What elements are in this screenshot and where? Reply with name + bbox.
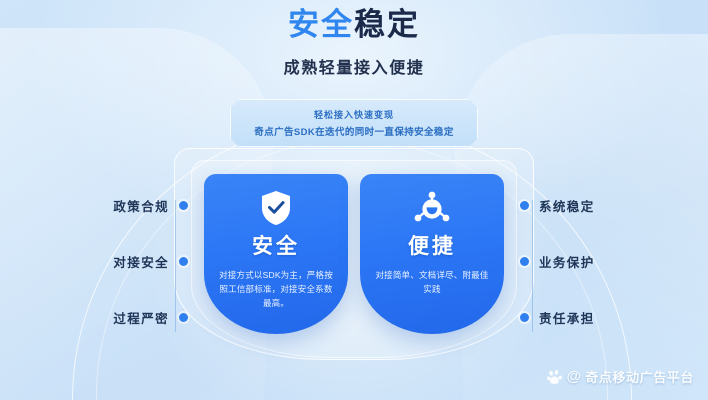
rail-item-label: 责任承担 — [539, 308, 595, 327]
feature-card-security[interactable]: 安全 对接方式以SDK为主，严格按照工信部标准，对接安全系数最高。 — [204, 174, 348, 334]
rail-item-label: 业务保护 — [539, 252, 595, 271]
rail-item-integration-security[interactable]: 对接安全 — [113, 252, 188, 270]
rail-dot-icon — [179, 201, 188, 210]
rail-item-policy-compliance[interactable]: 政策合规 — [113, 196, 188, 214]
rail-dot-icon — [520, 257, 529, 266]
tagline-line-1: 轻松接入快速变现 — [314, 108, 394, 121]
page-title-primary: 安全 — [288, 7, 354, 42]
baidu-paw-icon — [547, 369, 563, 385]
shield-stage: 安全 对接方式以SDK为主，严格按照工信部标准，对接安全系数最高。 — [159, 148, 549, 378]
page-subtitle: 成熟轻量接入便捷 — [0, 54, 708, 78]
page-title: 安全稳定 — [0, 6, 708, 45]
shield-check-icon — [217, 188, 335, 228]
page-title-secondary: 稳定 — [354, 7, 420, 42]
feature-card-title: 便捷 — [373, 230, 491, 260]
rail-dot-icon — [520, 201, 529, 210]
watermark-label: 奇点移动广告平台 — [585, 367, 694, 386]
feature-card-title: 安全 — [217, 230, 335, 260]
feature-rail-left: 政策合规 对接安全 过程严密 — [28, 196, 188, 336]
rail-item-process-rigor[interactable]: 过程严密 — [113, 308, 188, 326]
rail-item-label: 过程严密 — [113, 308, 169, 327]
poster-canvas: 安全稳定 成熟轻量接入便捷 轻松接入快速变现 奇点广告SDK在迭代的同时一直保持… — [0, 0, 708, 400]
rail-item-business-protection[interactable]: 业务保护 — [520, 252, 595, 270]
feature-card-body: 对接方式以SDK为主，严格按照工信部标准，对接安全系数最高。 — [217, 268, 335, 310]
molecule-smile-icon — [373, 188, 491, 228]
tagline-line-2: 奇点广告SDK在迭代的同时一直保持安全稳定 — [254, 124, 453, 138]
rail-dot-icon — [179, 257, 188, 266]
feature-card-body: 对接简单、文档详尽、附最佳实践 — [373, 268, 491, 296]
feature-rail-right: 系统稳定 业务保护 责任承担 — [520, 196, 680, 336]
feature-card-convenience[interactable]: 便捷 对接简单、文档详尽、附最佳实践 — [360, 174, 504, 334]
rail-item-label: 政策合规 — [113, 196, 169, 215]
feature-card-group: 安全 对接方式以SDK为主，严格按照工信部标准，对接安全系数最高。 — [204, 174, 504, 334]
rail-item-system-stability[interactable]: 系统稳定 — [520, 196, 595, 214]
watermark: @ 奇点移动广告平台 — [547, 367, 694, 386]
rail-item-responsibility[interactable]: 责任承担 — [520, 308, 595, 326]
rail-item-label: 对接安全 — [113, 252, 169, 271]
at-symbol-icon: @ — [567, 368, 582, 385]
rail-dot-icon — [179, 313, 188, 322]
rail-dot-icon — [520, 313, 529, 322]
header: 安全稳定 成熟轻量接入便捷 — [0, 6, 708, 78]
tagline-banner: 轻松接入快速变现 奇点广告SDK在迭代的同时一直保持安全稳定 — [230, 99, 478, 147]
rail-item-label: 系统稳定 — [539, 196, 595, 215]
